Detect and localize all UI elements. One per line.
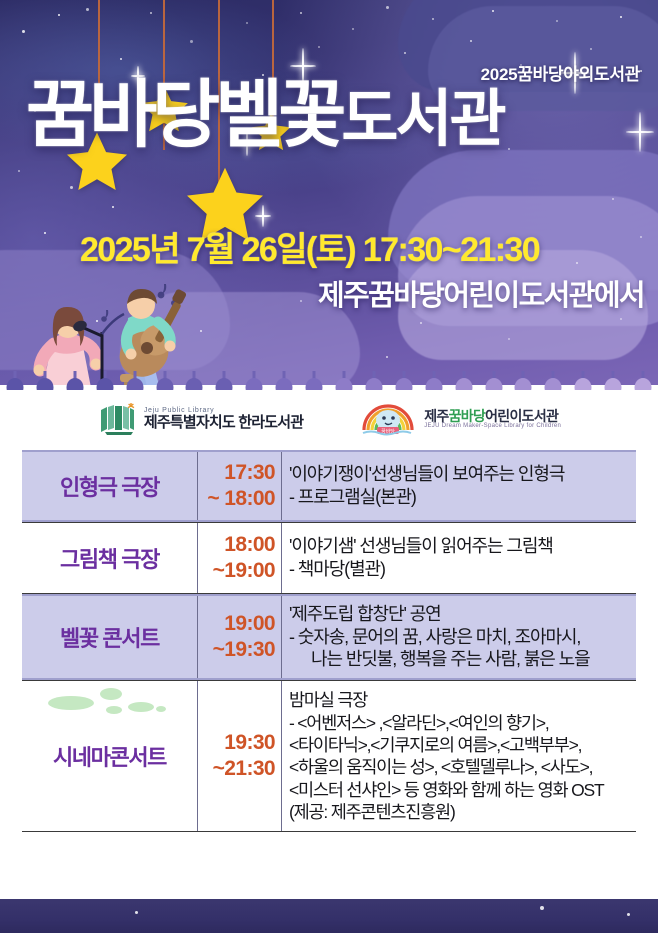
program-time: 17:30~ 18:00: [197, 450, 282, 522]
program-time: 19:30~21:30: [197, 680, 282, 832]
star-dot: [432, 18, 434, 20]
logo-strip: Jeju Public Library 제주특별자치도 한라도서관 꿈바당: [0, 390, 658, 448]
description-line: (제공: 제주콘텐츠진흥원): [289, 801, 630, 823]
kkumbadang-prefix: 제주: [424, 408, 448, 424]
star-dot: [612, 198, 614, 200]
bottom-night-band: [0, 899, 658, 933]
poster-root: 2025꿈바당야외도서관 꿈바당벨꽃도서관 2025년 7월 26일(토) 17…: [0, 0, 658, 933]
page-title-thin: 도서관: [341, 85, 503, 154]
schedule-row: 시네마콘서트19:30~21:30밤마실 극장- <어벤저스> ,<알라딘>,<…: [22, 680, 636, 832]
kkumbadang-library-logo: 꿈바당 제주꿈바당어린이도서관 JEJU Dream Maker-Space L…: [359, 400, 561, 438]
time-start: 19:30: [224, 730, 275, 756]
page-title-bold: 꿈바당벨꽃: [26, 73, 341, 156]
time-start: 18:00: [224, 532, 275, 558]
star-dot: [508, 338, 510, 340]
star-dot: [352, 28, 354, 30]
star-dot: [58, 14, 60, 16]
star-dot: [318, 46, 320, 48]
description-line: <하울의 움직이는 성>, <호텔델루나>, <사도>,: [289, 756, 630, 778]
star-dot: [135, 911, 138, 914]
program-description: '이야기쟁이'선생님들이 보여주는 인형극- 프로그램실(본관): [282, 450, 636, 522]
schedule-row: 인형극 극장17:30~ 18:00'이야기쟁이'선생님들이 보여주는 인형극-…: [22, 450, 636, 522]
star-dot: [300, 300, 302, 302]
time-end: ~19:00: [213, 558, 275, 584]
time-start: 19:00: [224, 611, 275, 637]
description-line: <타이타닉>,<기쿠지로의 여름>,<고백부부>,: [289, 734, 630, 756]
star-dot: [386, 356, 388, 358]
star-dot: [300, 12, 302, 14]
star-dot: [620, 318, 622, 320]
star-dot: [470, 40, 472, 42]
program-description: 밤마실 극장- <어벤저스> ,<알라딘>,<여인의 향기>,<타이타닉>,<기…: [282, 680, 636, 832]
time-end: ~ 18:00: [207, 486, 275, 512]
halla-book-icon: [97, 402, 137, 436]
program-name: 시네마콘서트: [22, 680, 197, 832]
night-sky-hero: 2025꿈바당야외도서관 꿈바당벨꽃도서관 2025년 7월 26일(토) 17…: [0, 0, 658, 385]
star-dot: [420, 322, 422, 324]
kkumbadang-brand: 꿈바당: [449, 408, 486, 424]
program-name: 인형극 극장: [22, 450, 197, 522]
description-line: - 책마당(별관): [289, 558, 630, 581]
star-dot: [556, 20, 558, 22]
time-end: ~19:30: [213, 637, 275, 663]
rainbow-icon: 꿈바당: [359, 400, 417, 438]
description-line: '이야기샘' 선생님들이 읽어주는 그림책: [289, 535, 630, 558]
program-time: 18:00~19:00: [197, 522, 282, 594]
musicians-illustration: [14, 262, 214, 385]
star-dot: [44, 232, 46, 234]
description-line: - 프로그램실(본관): [289, 486, 630, 509]
hero-kicker: 2025꿈바당야외도서관: [481, 60, 640, 85]
kkumbadang-logo-kr: 제주꿈바당어린이도서관: [424, 409, 561, 424]
halla-library-logo: Jeju Public Library 제주특별자치도 한라도서관: [97, 402, 303, 436]
program-name: 그림책 극장: [22, 522, 197, 594]
kkumbadang-suffix: 어린이도서관: [485, 408, 558, 424]
star-dot: [640, 236, 642, 238]
star-dot: [18, 170, 20, 172]
star-dot: [22, 30, 25, 33]
kkumbadang-logo-en: JEJU Dream Maker-Space Library for Child…: [424, 423, 561, 429]
page-title: 꿈바당벨꽃도서관: [26, 78, 504, 152]
time-end: ~21:30: [213, 756, 275, 782]
star-dot: [576, 262, 578, 264]
description-line: 밤마실 극장: [289, 689, 630, 711]
star-dot: [508, 148, 510, 150]
halla-logo-kr: 제주특별자치도 한라도서관: [144, 415, 303, 431]
star-dot: [112, 206, 114, 208]
event-venue: 제주꿈바당어린이도서관에서: [318, 272, 644, 314]
star-dot: [246, 22, 248, 24]
star-dot: [386, 6, 389, 9]
star-dot: [540, 906, 544, 910]
description-line: 나는 반딧불, 행복을 주는 사람, 붉은 노을: [289, 648, 630, 671]
star-dot: [620, 16, 622, 18]
star-dot: [627, 913, 630, 916]
star-dot: [190, 40, 193, 43]
time-start: 17:30: [224, 460, 275, 486]
star-dot: [590, 48, 592, 50]
row-divider: [22, 680, 636, 681]
row-divider: [22, 831, 636, 832]
description-line: - <어벤저스> ,<알라딘>,<여인의 향기>,: [289, 712, 630, 734]
star-dot: [120, 58, 122, 60]
program-name: 벨꽃 콘서트: [22, 594, 197, 680]
row-divider: [22, 522, 636, 523]
schedule-row: 그림책 극장18:00~19:00'이야기샘' 선생님들이 읽어주는 그림책- …: [22, 522, 636, 594]
star-dot: [404, 52, 406, 54]
description-line: <미스터 선샤인> 등 영화와 함께 하는 영화 OST: [289, 779, 630, 801]
sparkle-icon: [626, 112, 654, 152]
schedule-table: 인형극 극장17:30~ 18:00'이야기쟁이'선생님들이 보여주는 인형극-…: [22, 450, 636, 832]
program-description: '이야기샘' 선생님들이 읽어주는 그림책- 책마당(별관): [282, 522, 636, 594]
description-line: - 숫자송, 문어의 꿈, 사랑은 마치, 조아마시,: [289, 626, 630, 649]
row-divider: [22, 450, 636, 452]
star-dot: [640, 70, 642, 72]
star-dot: [150, 12, 152, 14]
schedule-row: 벨꽃 콘서트19:00~19:30'제주도립 합창단' 공연- 숫자송, 문어의…: [22, 594, 636, 680]
program-description: '제주도립 합창단' 공연- 숫자송, 문어의 꿈, 사랑은 마치, 조아마시,…: [282, 594, 636, 680]
program-time: 19:00~19:30: [197, 594, 282, 680]
row-divider: [22, 594, 636, 596]
star-dot: [492, 10, 494, 12]
description-line: '이야기쟁이'선생님들이 보여주는 인형극: [289, 463, 630, 486]
star-dot: [86, 8, 89, 11]
description-line: '제주도립 합창단' 공연: [289, 603, 630, 626]
